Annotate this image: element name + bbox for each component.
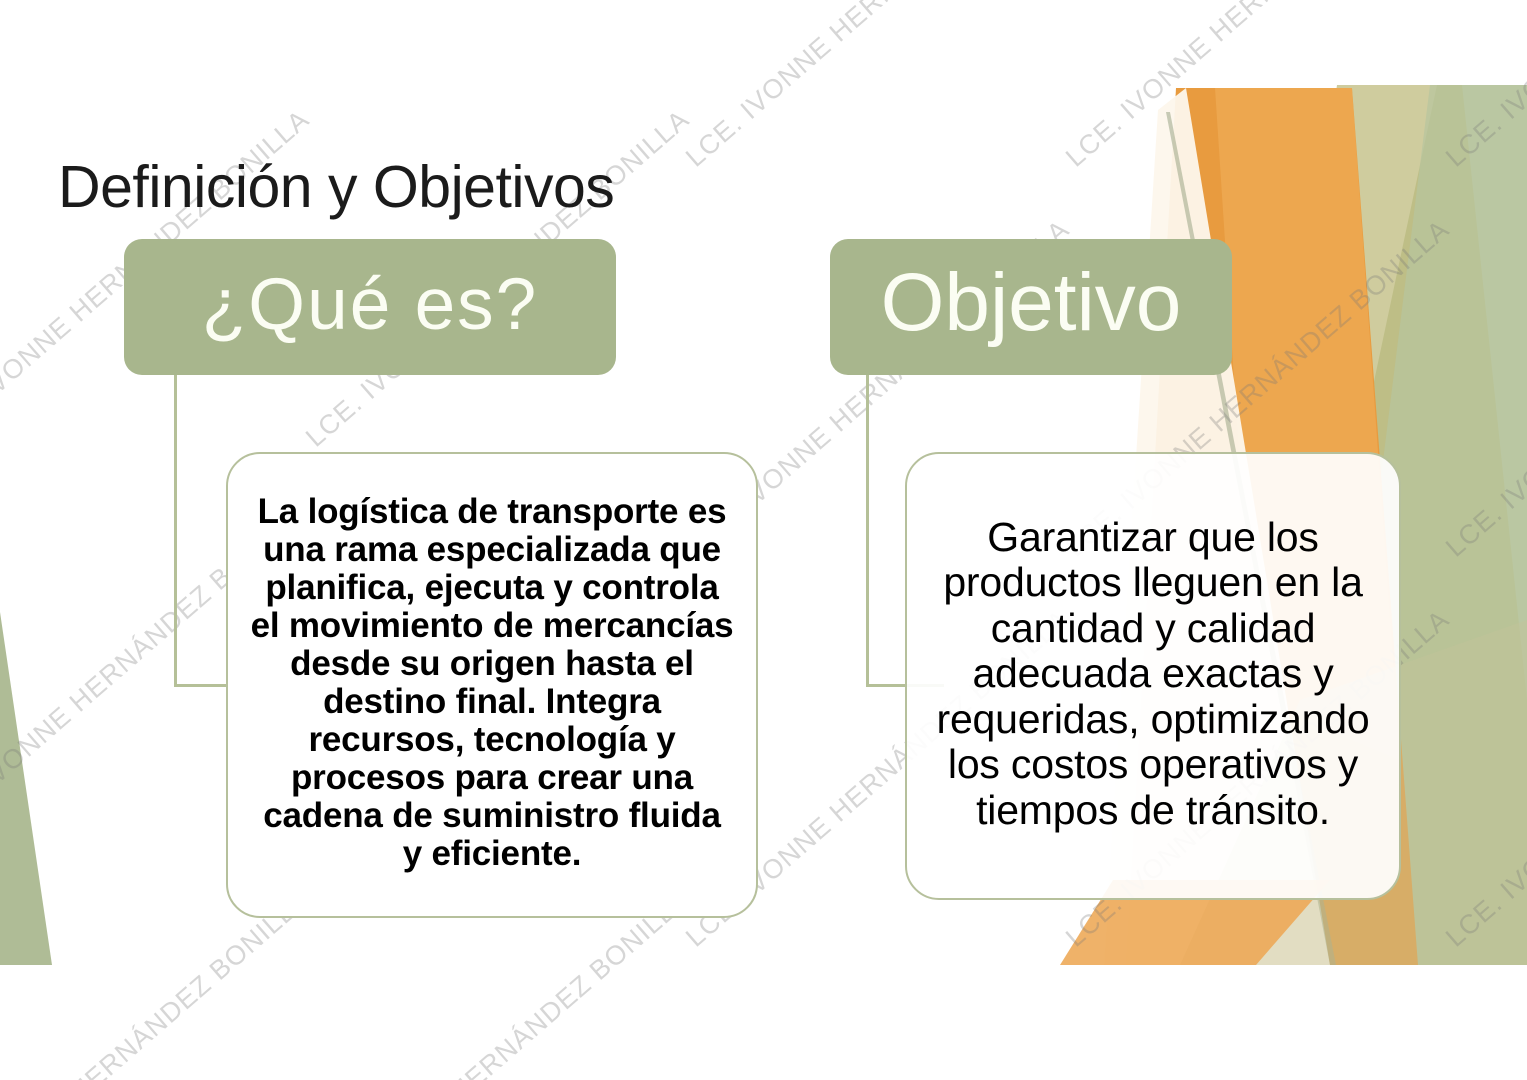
slide-canvas: LCE. IVONNE HERNÁNDEZ BONILLA LCE. IVONN… — [0, 0, 1527, 1080]
header-pill-objetivo-label: Objetivo — [881, 256, 1182, 350]
header-pill-que-es[interactable]: ¿Qué es? — [124, 239, 616, 375]
header-pill-objetivo[interactable]: Objetivo — [830, 239, 1232, 375]
content-card-objetivo: Garantizar que los productos lleguen en … — [905, 452, 1401, 900]
content-card-definicion-text: La logística de transporte es una rama e… — [250, 493, 734, 873]
content-card-objetivo-text: Garantizar que los productos lleguen en … — [925, 515, 1381, 834]
watermark-text: LCE. IVONNE HERNÁNDEZ BONILLA — [1440, 214, 1527, 564]
watermark-text: LCE. IVONNE HERNÁNDEZ BONILLA — [1060, 0, 1456, 173]
watermark-text: LCE. IVONNE HERNÁNDEZ BONILLA — [1440, 0, 1527, 173]
watermark-text: LCE. IVONNE HERNÁNDEZ BONILLA — [680, 0, 1076, 173]
header-pill-que-es-label: ¿Qué es? — [202, 263, 539, 346]
page-title: Definición y Objetivos — [58, 157, 614, 218]
content-card-definicion: La logística de transporte es una rama e… — [226, 452, 758, 918]
watermark-text: LCE. IVONNE HERNÁNDEZ BONILLA — [1440, 604, 1527, 954]
left-green-wedge — [0, 612, 52, 965]
